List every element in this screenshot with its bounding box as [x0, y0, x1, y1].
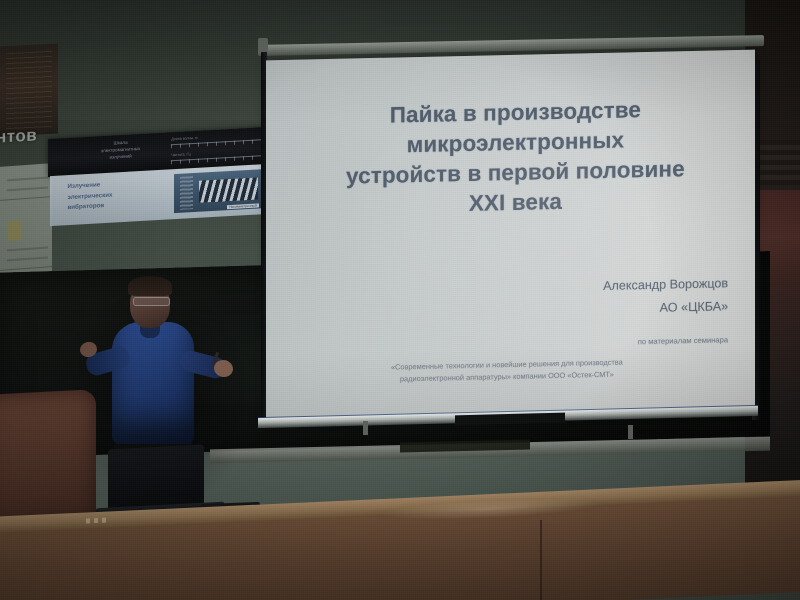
dark-wall-poster [0, 43, 58, 136]
vibrators-photo: Несимметричный [174, 169, 261, 213]
presentation-laptop [108, 444, 204, 511]
slide-seminar-note: по материалам семинара [638, 335, 728, 346]
slide-organization: АО «ЦКБА» [603, 296, 728, 322]
poster-text-lines [6, 51, 52, 129]
screen-hook-left [363, 421, 368, 435]
slide-source-note: «Современные технологии и новейшие решен… [286, 355, 729, 388]
slide-author-block: Александр Ворожцов АО «ЦКБА» [603, 272, 728, 321]
projector-screen: Пайка в производстве микроэлектронных ус… [266, 50, 755, 419]
slide-title: Пайка в производстве микроэлектронных ус… [305, 93, 726, 222]
podium [0, 389, 96, 525]
glasses-icon [133, 297, 170, 306]
poster-yellow-figure [8, 220, 22, 241]
antenna-tower-shape [180, 176, 194, 210]
em-scale-axis-label-top: Длина волны, м [171, 136, 197, 141]
presenter-torso [112, 322, 194, 444]
presenter-hair [128, 276, 172, 296]
screen-hook-right [628, 425, 633, 439]
projector-screen-roller-knob [258, 38, 268, 52]
vibrators-photo-caption: Несимметричный [227, 203, 259, 209]
slide-author-name: Александр Ворожцов [603, 272, 728, 298]
lecture-photo: нтов Шкала электромагнитных излучений Дл… [0, 0, 800, 600]
desk-socket-strip [86, 518, 108, 524]
vibrators-title: Излучение электрических вибраторов [67, 177, 167, 214]
em-scale-axis-label-bottom: Частота, Гц [171, 152, 190, 157]
front-desk-seam [540, 520, 542, 600]
em-scale-title: Шкала электромагнитных излучений [83, 138, 158, 163]
right-board-text-strip [757, 140, 800, 185]
antenna-grid-shape [199, 177, 258, 203]
